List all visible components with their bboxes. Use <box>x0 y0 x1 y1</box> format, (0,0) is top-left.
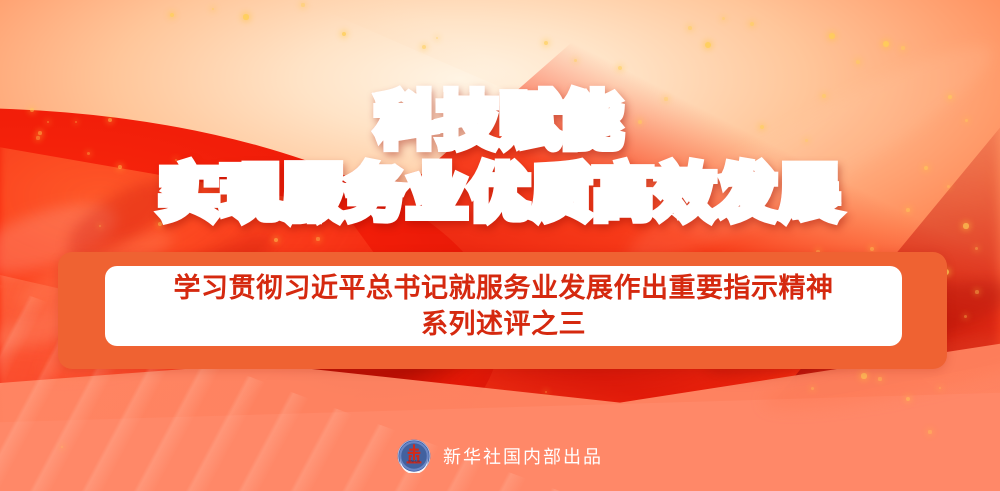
golden-particle <box>901 46 904 49</box>
subtitle-line-1: 学习贯彻习近平总书记就服务业发展作出重要指示精神 <box>174 271 834 307</box>
golden-particle <box>750 22 754 26</box>
golden-particle <box>975 290 979 294</box>
golden-particle <box>170 13 174 17</box>
golden-particle <box>975 247 978 250</box>
golden-particle <box>906 397 910 401</box>
golden-particle <box>870 247 874 251</box>
golden-particle <box>316 237 319 240</box>
golden-particle <box>243 14 248 19</box>
golden-particle <box>574 59 577 62</box>
footer-credit: XINHUA 新华社国内部出品 <box>0 439 1000 473</box>
golden-particle <box>861 373 866 378</box>
golden-particle <box>928 430 931 433</box>
golden-particle <box>883 41 889 47</box>
golden-particle <box>705 42 711 48</box>
poster-root: 科技赋能 实现服务业优质高效发展 学习贯彻习近平总书记就服务业发展作出重要指示精… <box>0 0 1000 491</box>
golden-particle <box>963 223 968 228</box>
golden-particle <box>301 3 304 6</box>
golden-particle <box>99 225 102 228</box>
golden-particle <box>688 26 692 30</box>
subtitle-card: 学习贯彻习近平总书记就服务业发展作出重要指示精神 系列述评之三 <box>105 266 902 346</box>
title-line-2: 实现服务业优质高效发展 <box>0 164 1000 224</box>
svg-text:XINHUA: XINHUA <box>408 459 421 463</box>
golden-particle <box>829 33 835 39</box>
golden-particle <box>964 315 967 318</box>
subtitle-line-2: 系列述评之三 <box>421 307 586 343</box>
golden-particle <box>544 41 549 46</box>
golden-particle <box>856 60 860 64</box>
golden-particle <box>422 45 426 49</box>
golden-particle <box>722 17 725 20</box>
golden-particle <box>274 238 278 242</box>
xinhua-logo-icon: XINHUA <box>397 439 431 473</box>
poster-title: 科技赋能 实现服务业优质高效发展 <box>0 92 1000 224</box>
golden-particle <box>939 387 942 390</box>
golden-particle <box>436 37 439 40</box>
golden-particle <box>878 377 881 380</box>
title-line-1: 科技赋能 <box>0 92 1000 152</box>
golden-particle <box>212 8 215 11</box>
golden-particle <box>618 66 622 70</box>
footer-credit-text: 新华社国内部出品 <box>443 443 603 469</box>
golden-particle <box>342 32 346 36</box>
